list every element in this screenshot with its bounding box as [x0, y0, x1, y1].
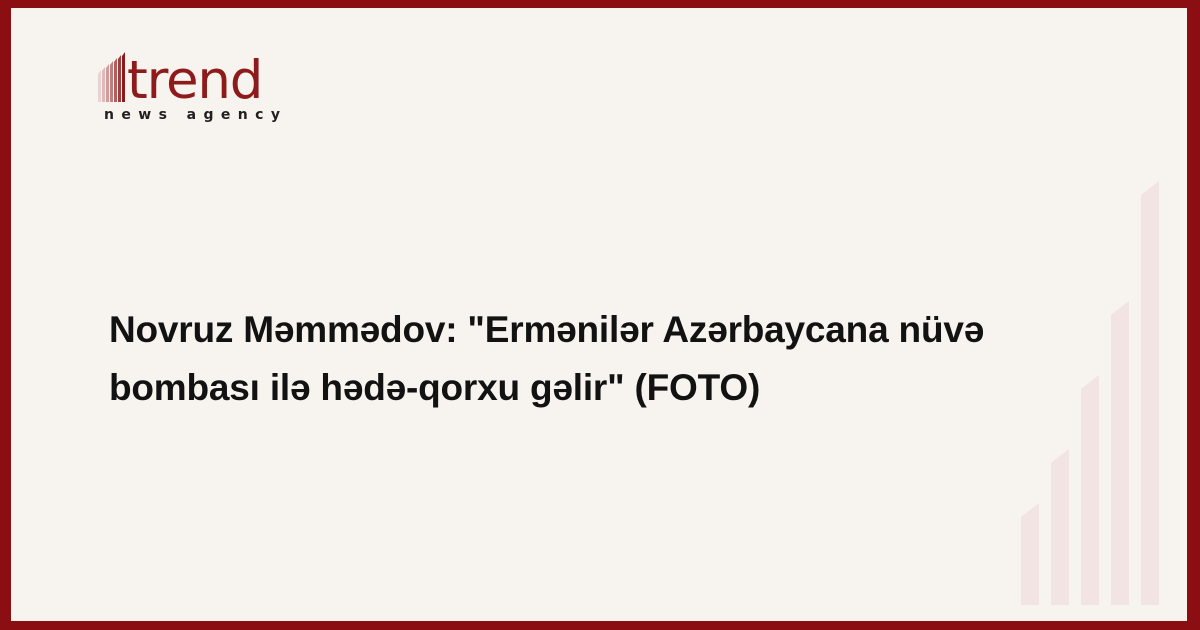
headline-text: Novruz Məmmədov: "Ermənilər Azərbaycana … — [109, 301, 1019, 417]
card-canvas: trend news agency Novruz Məmmədov: "Ermə… — [11, 8, 1187, 621]
deco-bar-3 — [1081, 375, 1099, 605]
deco-bar-4 — [1111, 301, 1129, 605]
social-share-card: trend news agency Novruz Məmmədov: "Ermə… — [0, 0, 1200, 630]
ascending-bars-mark-icon — [98, 52, 126, 102]
logo-row: trend — [98, 46, 428, 104]
deco-bar-5 — [1141, 181, 1159, 605]
deco-bar-2 — [1051, 449, 1069, 605]
logo-wordmark: trend — [127, 56, 262, 106]
ascending-bars-decoration — [1021, 173, 1181, 605]
deco-bar-1 — [1021, 503, 1039, 605]
trend-logo[interactable]: trend news agency — [98, 46, 428, 123]
